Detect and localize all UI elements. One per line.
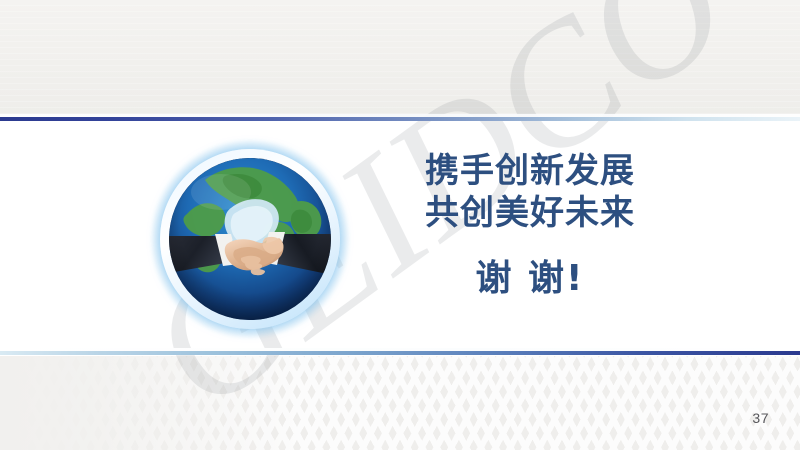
top-divider-rule [0,117,800,121]
globe-handshake-emblem [152,141,348,337]
slide-canvas: GEIDCO [0,0,800,450]
top-gray-band [0,0,800,118]
headline-line-2: 共创美好未来 [400,192,660,234]
closing-thanks: 谢 谢! [400,256,660,302]
headline-line-1: 携手创新发展 [400,150,660,192]
page-number: 37 [752,410,769,426]
bottom-texture-band [0,356,800,450]
headline-block: 携手创新发展 共创美好未来 [400,150,660,234]
bottom-divider-rule [0,351,800,355]
globe-icon [169,158,331,320]
